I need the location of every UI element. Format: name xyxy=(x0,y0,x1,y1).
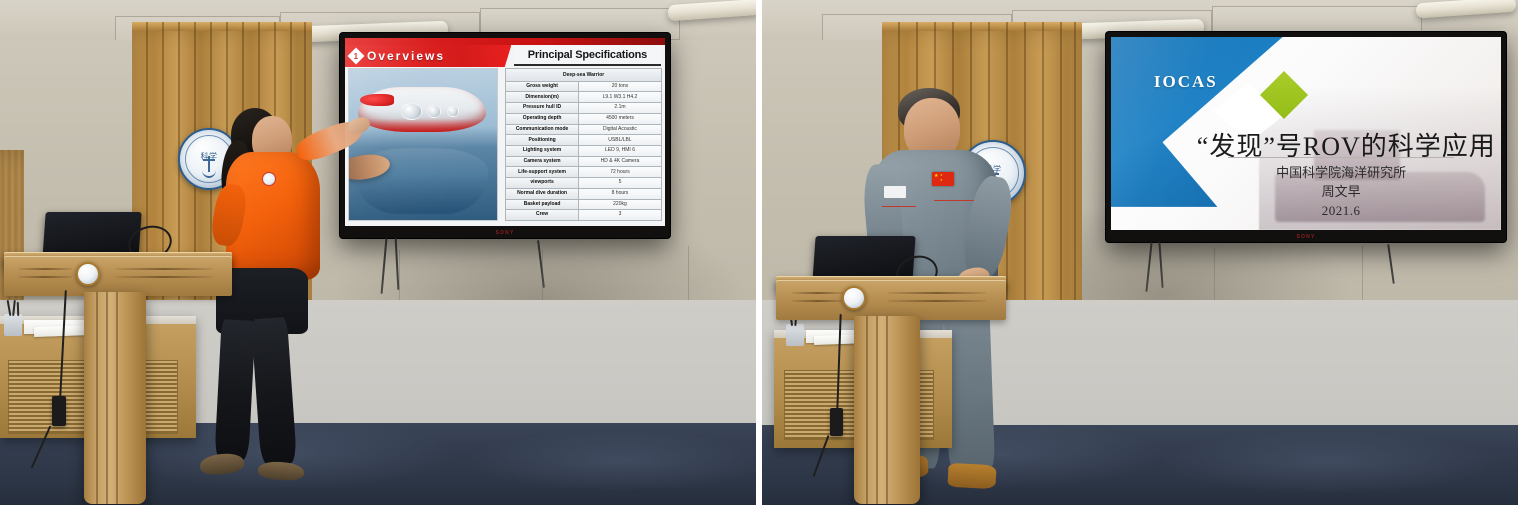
affiliation-line: 中国科学院海洋研究所 xyxy=(1205,164,1478,183)
tv-screen: 1 Overviews Principal Specifications xyxy=(345,38,665,226)
row-key: Camera system xyxy=(506,157,579,167)
table-row: Life-support system 72 hours xyxy=(505,167,662,178)
specifications-table: Deep-sea Warrior Gross weight 20 tons Di… xyxy=(505,68,662,221)
rov-viewport xyxy=(447,106,458,117)
row-value: LED 9, HMI 6 xyxy=(579,146,661,156)
row-key: Operating depth xyxy=(506,114,579,124)
row-key: Gross weight xyxy=(506,82,579,92)
row-key: viewports xyxy=(506,178,579,188)
wood-wall-cap xyxy=(132,22,312,31)
rov-vehicle-body xyxy=(358,87,486,132)
podium-column xyxy=(84,292,146,504)
name-badge xyxy=(884,186,906,198)
row-key: Life-support system xyxy=(506,167,579,177)
podium-front-panel xyxy=(4,256,232,296)
podium-medallion xyxy=(76,262,100,286)
submersible-photo xyxy=(348,68,498,221)
title-underline xyxy=(1228,157,1454,158)
table-row: Lighting system LED 9, HMI 6 xyxy=(505,146,662,157)
row-key: Lighting system xyxy=(506,146,579,156)
pen-cup xyxy=(4,314,22,336)
row-key: Basket payload xyxy=(506,200,579,210)
rov-viewport xyxy=(401,103,421,120)
table-row: Camera system HD & 4K Camera xyxy=(505,157,662,168)
tv-screen: IOCAS “发现”号ROV的科学应用 中国科学院海洋研究所 周文早 2021.… xyxy=(1111,37,1501,230)
two-panel-photo-composite: 科学 1 Overviews Principal Specifications xyxy=(0,0,1518,505)
row-key: Positioning xyxy=(506,135,579,145)
slide-banner-label: Overviews xyxy=(367,49,445,63)
table-row: Basket payload 220kg xyxy=(505,200,662,211)
wall-mounted-tv: IOCAS “发现”号ROV的科学应用 中国科学院海洋研究所 周文早 2021.… xyxy=(1106,32,1506,242)
wall-mounted-tv: 1 Overviews Principal Specifications xyxy=(340,33,670,238)
row-value: 8 hours xyxy=(579,189,661,199)
slide-section-banner: 1 Overviews xyxy=(345,45,511,67)
row-value: Digital Acoustic xyxy=(579,125,661,135)
row-value: 2.1m xyxy=(579,103,661,113)
panel-divider xyxy=(756,0,762,505)
anchor-icon xyxy=(202,162,216,178)
iocas-logo-text: IOCAS xyxy=(1154,72,1218,92)
left-photo-panel: 科学 1 Overviews Principal Specifications xyxy=(0,0,756,505)
pen xyxy=(17,302,19,316)
row-value: HD & 4K Camera xyxy=(579,157,661,167)
presentation-slide-specifications: 1 Overviews Principal Specifications xyxy=(345,38,665,226)
uniform-stripe xyxy=(882,206,916,207)
china-flag-patch: ★ ★ ★ xyxy=(932,172,954,186)
row-key: Dimension(m) xyxy=(506,92,579,102)
row-value: 220kg xyxy=(579,200,661,210)
uniform-stripe xyxy=(934,200,974,201)
tv-brand-label: SONY xyxy=(496,230,515,236)
podium-medallion xyxy=(842,286,866,310)
slide-title: Principal Specifications xyxy=(514,46,661,66)
table-row: Operating depth 4500 meters xyxy=(505,114,662,125)
table-row: viewports 5 xyxy=(505,178,662,189)
row-value: 20 tons xyxy=(579,82,661,92)
table-row: Pressure hull ID 2.1m xyxy=(505,103,662,114)
row-key: Crew xyxy=(506,210,579,220)
tv-brand-label: SONY xyxy=(1297,234,1316,240)
row-value: 4500 meters xyxy=(579,114,661,124)
table-row: Gross weight 20 tons xyxy=(505,82,662,93)
presenter-boot xyxy=(947,463,996,489)
row-value: 3 xyxy=(579,210,661,220)
table-header: Deep-sea Warrior xyxy=(505,68,662,82)
row-value: 72 hours xyxy=(579,167,661,177)
table-row: Normal dive duration 8 hours xyxy=(505,189,662,200)
table-row: Dimension(m) L9.1 W3.1 H4.2 xyxy=(505,92,662,103)
row-key: Communication mode xyxy=(506,125,579,135)
row-value: 5 xyxy=(579,178,661,188)
rov-nose xyxy=(360,94,393,106)
row-key: Pressure hull ID xyxy=(506,103,579,113)
presenter-name-line: 周文早 xyxy=(1205,183,1478,202)
podium-column xyxy=(854,316,920,504)
table-row: Positioning USBL/LBL xyxy=(505,135,662,146)
right-photo-panel: 科学 IOCAS “发现”号ROV的科学应用 xyxy=(762,0,1518,505)
row-key: Normal dive duration xyxy=(506,189,579,199)
shirt-logo xyxy=(262,172,276,186)
slide-top-bar xyxy=(345,38,665,45)
presentation-slide-title: IOCAS “发现”号ROV的科学应用 中国科学院海洋研究所 周文早 2021.… xyxy=(1111,37,1501,230)
row-value: L9.1 W3.1 H4.2 xyxy=(579,92,661,102)
rov-viewport xyxy=(427,105,441,118)
power-adapter xyxy=(830,408,843,436)
section-number-badge: 1 xyxy=(348,48,365,65)
wood-wall-cap xyxy=(882,22,1082,31)
slide-subtitle-block: 中国科学院海洋研究所 周文早 2021.6 xyxy=(1205,164,1478,221)
row-value: USBL/LBL xyxy=(579,135,661,145)
pen-cup xyxy=(786,324,804,346)
podium-front-panel xyxy=(776,280,1006,320)
table-row: Communication mode Digital Acoustic xyxy=(505,125,662,136)
table-row: Crew 3 xyxy=(505,210,662,221)
power-adapter xyxy=(52,396,66,426)
date-line: 2021.6 xyxy=(1205,202,1478,221)
